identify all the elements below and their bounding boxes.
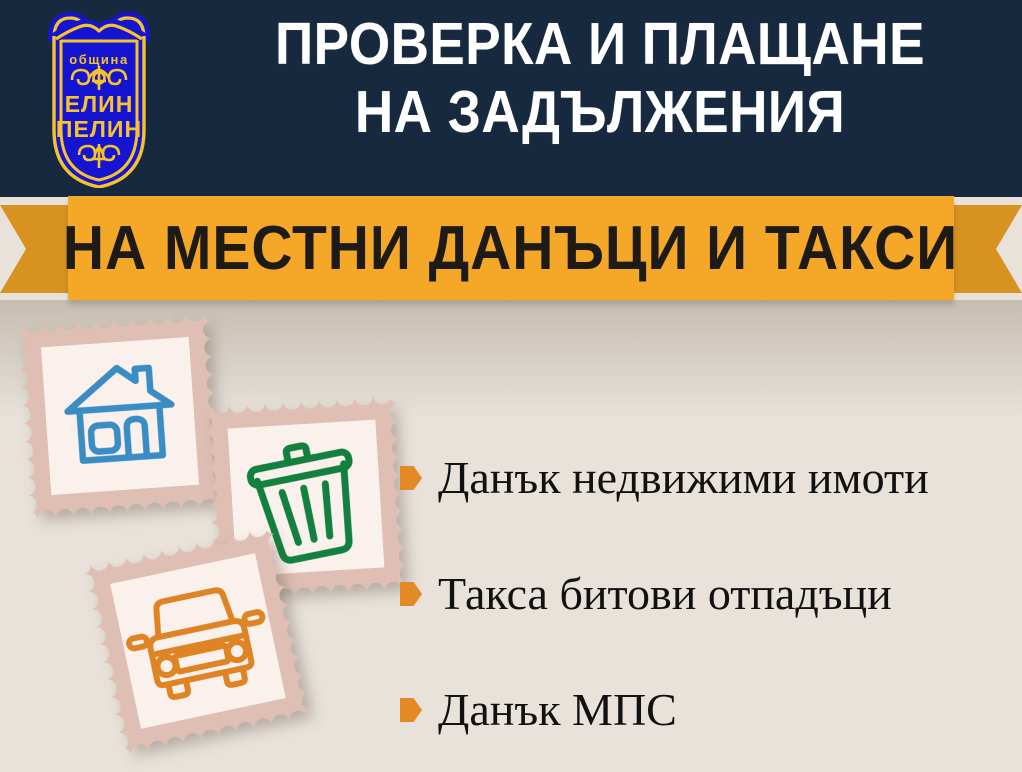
- page-title-line-2: НА ЗАДЪЛЖЕНИЯ: [222, 84, 978, 142]
- bullet-arrow-icon: [400, 582, 422, 606]
- poster-canvas: община ЕЛИН ПЕЛИН: [0, 0, 1022, 772]
- bullet-arrow-icon: [400, 698, 422, 722]
- list-item[interactable]: Данък МПС: [400, 652, 1010, 768]
- ribbon-subtitle: НА МЕСТНИ ДАНЪЦИ И ТАКСИ: [63, 213, 958, 284]
- bullet-arrow-icon: [400, 466, 422, 490]
- tax-types-list: Данък недвижими имоти Такса битови отпад…: [400, 420, 1010, 768]
- ribbon-band: НА МЕСТНИ ДАНЪЦИ И ТАКСИ: [68, 196, 954, 300]
- coat-of-arms-icon: община ЕЛИН ПЕЛИН: [32, 8, 166, 188]
- list-item-label: Такса битови отпадъци: [438, 571, 892, 617]
- stamp-vehicle: [82, 525, 314, 757]
- header-bar: община ЕЛИН ПЕЛИН: [0, 0, 1022, 197]
- list-item[interactable]: Данък недвижими имоти: [400, 420, 1010, 536]
- stamp-real-estate: [15, 311, 224, 520]
- ribbon-text-wrap: НА МЕСТНИ ДАНЪЦИ И ТАКСИ: [68, 196, 954, 300]
- header-title-block: ПРОВЕРКА И ПЛАЩАНЕ НА ЗАДЪЛЖЕНИЯ: [180, 16, 1020, 142]
- logo-word-pelin: ПЕЛИН: [56, 116, 142, 142]
- ribbon-banner: НА МЕСТНИ ДАНЪЦИ И ТАКСИ: [0, 190, 1022, 308]
- page-title-line-1: ПРОВЕРКА И ПЛАЩАНЕ: [222, 16, 978, 74]
- list-item-label: Данък МПС: [438, 687, 677, 733]
- municipality-logo: община ЕЛИН ПЕЛИН: [32, 8, 166, 188]
- stamp-frame-scalloped: [72, 515, 323, 766]
- logo-word-obshtina: община: [69, 52, 129, 67]
- list-item-label: Данък недвижими имоти: [438, 455, 929, 501]
- logo-word-elin: ЕЛИН: [65, 91, 134, 117]
- list-item[interactable]: Такса битови отпадъци: [400, 536, 1010, 652]
